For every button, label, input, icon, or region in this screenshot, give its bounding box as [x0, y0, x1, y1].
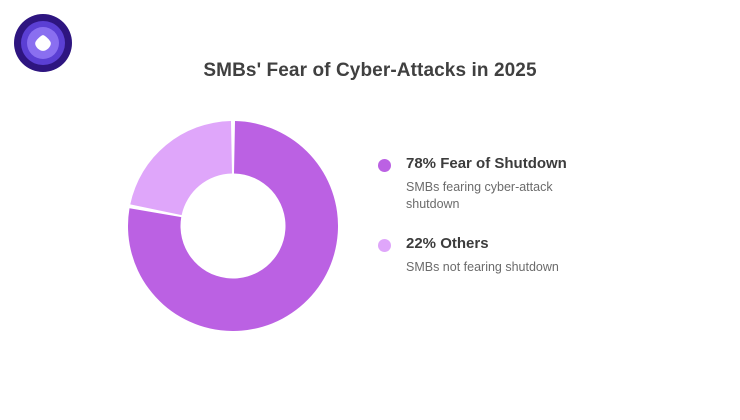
chart-legend: 78% Fear of Shutdown SMBs fearing cyber-… [378, 155, 678, 298]
shield-play-logo-icon [33, 33, 53, 53]
legend-item-description: SMBs not fearing shutdown [406, 259, 581, 276]
legend-item-others[interactable]: 22% Others SMBs not fearing shutdown [378, 235, 678, 276]
legend-item-description: SMBs fearing cyber-attack shutdown [406, 179, 581, 213]
donut-chart-svg [128, 121, 338, 331]
legend-color-dot-icon [378, 159, 391, 172]
legend-item-label: 22% Others [406, 235, 678, 253]
logo-ring-middle [21, 21, 65, 65]
donut-chart [128, 121, 338, 331]
legend-item-fear-of-shutdown[interactable]: 78% Fear of Shutdown SMBs fearing cyber-… [378, 155, 678, 213]
legend-color-dot-icon [378, 239, 391, 252]
donut-slices [128, 121, 338, 331]
legend-item-label: 78% Fear of Shutdown [406, 155, 678, 173]
donut-slice-others[interactable] [130, 121, 232, 215]
chart-title: SMBs' Fear of Cyber-Attacks in 2025 [0, 60, 740, 82]
logo-ring-inner [27, 27, 59, 59]
